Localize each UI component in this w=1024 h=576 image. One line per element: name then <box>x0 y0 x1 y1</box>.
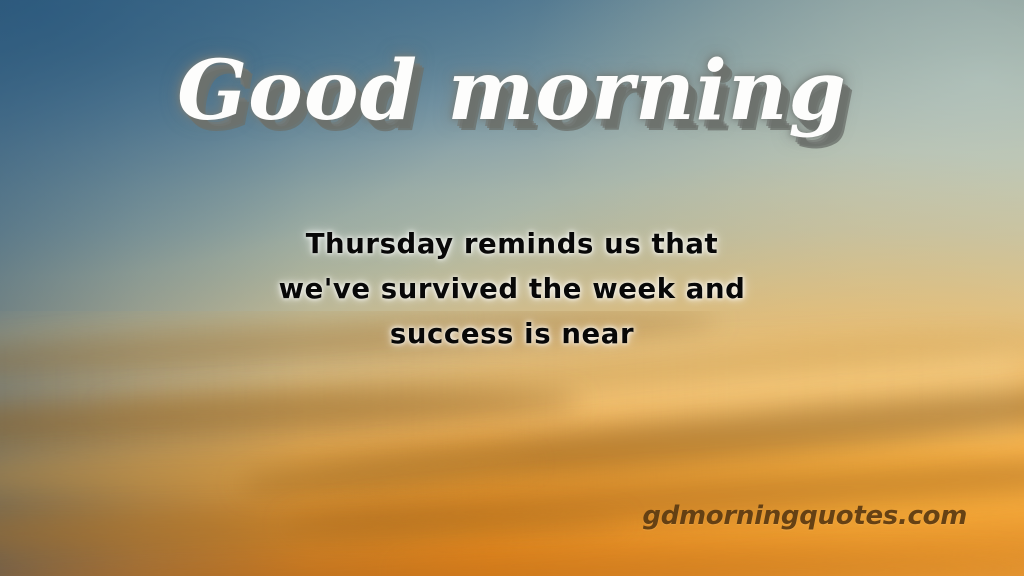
cloud-streak <box>0 505 627 553</box>
quote-card: Good morning Thursday reminds us that we… <box>0 0 1024 576</box>
quote-line: success is near <box>0 312 1024 357</box>
quote-text: Thursday reminds us that we've survived … <box>0 222 1024 357</box>
site-watermark: gdmorningquotes.com <box>642 501 967 531</box>
quote-line: we've survived the week and <box>0 267 1024 312</box>
quote-line: Thursday reminds us that <box>0 222 1024 267</box>
greeting-title: Good morning <box>0 47 1024 136</box>
